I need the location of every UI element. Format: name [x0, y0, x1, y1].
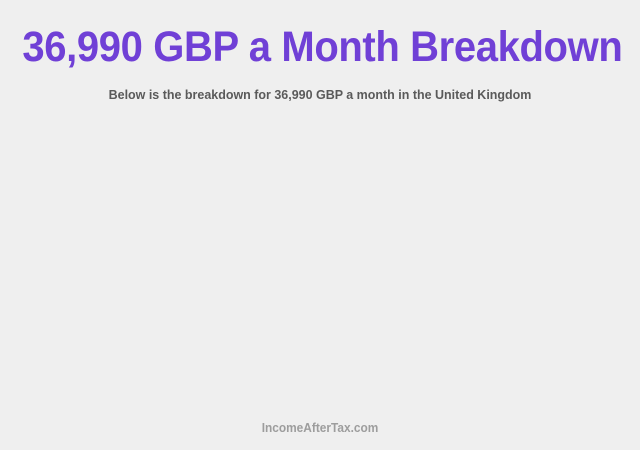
site-watermark: IncomeAfterTax.com: [16, 420, 624, 436]
page-subtitle: Below is the breakdown for 36,990 GBP a …: [13, 87, 627, 103]
chart-area: [0, 112, 640, 408]
page-root: 36,990 GBP a Month Breakdown Below is th…: [0, 0, 640, 450]
page-title: 36,990 GBP a Month Breakdown: [22, 24, 617, 70]
chart-plot-region: [0, 112, 640, 408]
